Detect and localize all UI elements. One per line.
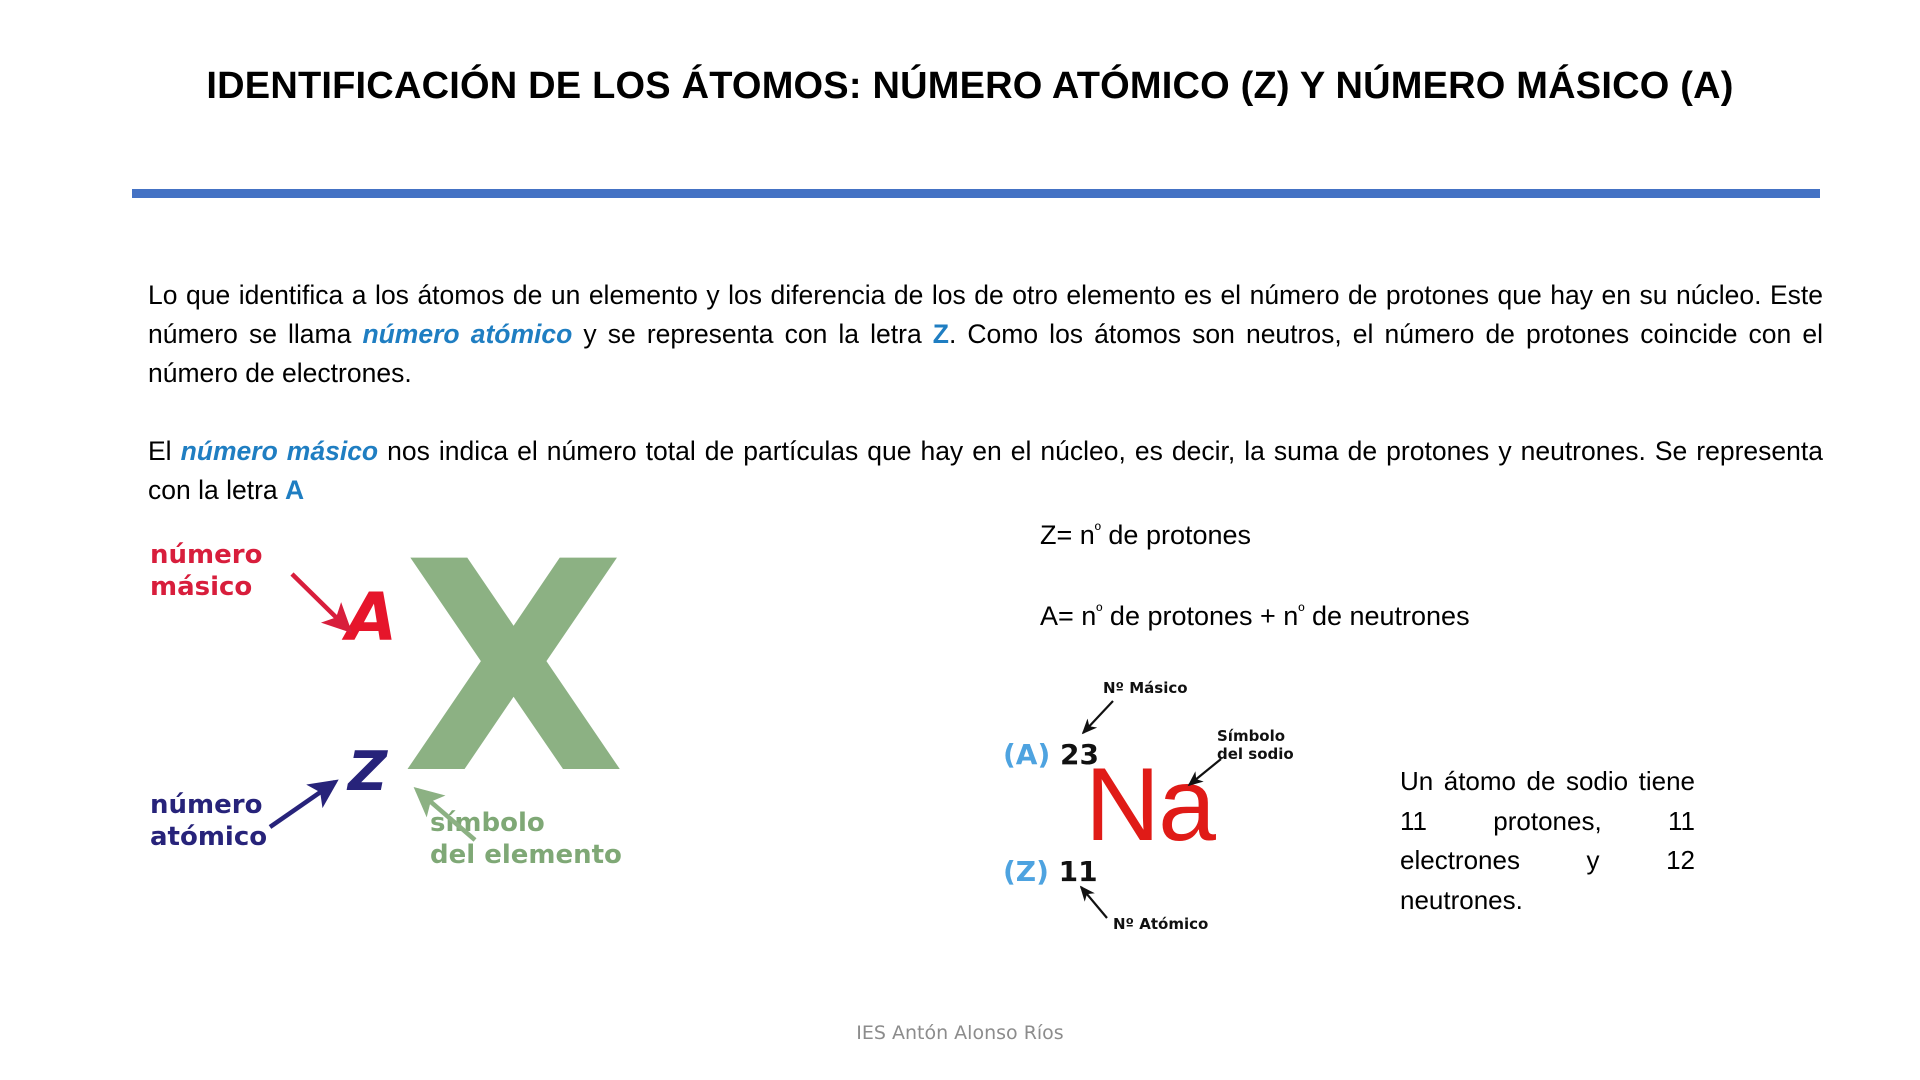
highlight-numero-masico: número másico <box>181 436 379 466</box>
paragraph-2-part-2: nos indica el número total de partículas… <box>148 436 1823 505</box>
highlight-letter-a: A <box>285 475 304 505</box>
equation-z-label: Z= n <box>1040 520 1095 550</box>
paragraph-1-part-2: y se representa con la letra <box>572 319 932 349</box>
paragraph-atomic-number: Lo que identifica a los átomos de un ele… <box>148 276 1823 394</box>
diagram-generic-nuclide-notation: X A Z número másico número atómico símbo… <box>150 540 710 970</box>
highlight-letter-z: Z <box>933 319 949 349</box>
arrow-to-mass-number-icon <box>1083 701 1113 733</box>
equation-z: Z= nº de protones <box>1040 520 1251 551</box>
equation-z-rest: de protones <box>1101 520 1251 550</box>
paragraph-mass-number: El número másico nos indica el número to… <box>148 432 1823 510</box>
arrow-to-atomic-number-icon <box>1081 887 1107 918</box>
equation-a-label: A= n <box>1040 601 1096 631</box>
diagram-na-arrows <box>985 675 1335 950</box>
paragraph-2-part-1: El <box>148 436 181 466</box>
page-title: IDENTIFICACIÓN DE LOS ÁTOMOS: NÚMERO ATÓ… <box>130 62 1810 111</box>
sodium-explanation-text: Un átomo de sodio tiene 11 protones, 11 … <box>1400 762 1695 920</box>
highlight-numero-atomico: número atómico <box>362 319 572 349</box>
arrow-mass-to-a-icon <box>292 574 349 630</box>
slide-footer: IES Antón Alonso Ríos <box>0 1022 1920 1044</box>
equation-a-rest: de neutrones <box>1304 601 1469 631</box>
diagram-azx-arrows <box>150 540 710 970</box>
equation-a: A= nº de protones + nº de neutrones <box>1040 601 1470 632</box>
title-divider <box>132 189 1820 198</box>
arrow-atomic-to-z-icon <box>270 782 335 827</box>
equation-a-middle: de protones + n <box>1102 601 1298 631</box>
diagram-sodium-nuclide-notation: Na (A) 23 (Z) 11 Nº Másico Símbolo del s… <box>985 675 1335 950</box>
arrow-to-sodium-symbol-icon <box>1189 759 1221 785</box>
arrow-symbol-to-x-icon <box>417 790 475 840</box>
